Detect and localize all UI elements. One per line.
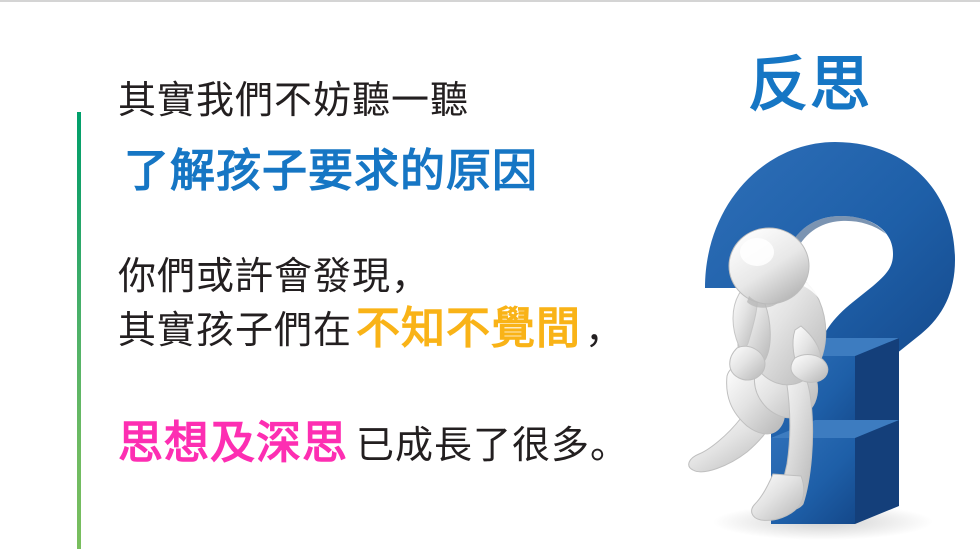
body-line-4-suffix: ， (585, 308, 624, 352)
body-line-5-highlight: 思想及深思 (118, 416, 356, 469)
body-line-4-highlight: 不知不覺間 (352, 303, 585, 354)
accent-bar (77, 112, 81, 549)
body-line-1: 其實我們不妨聽一聽 (118, 76, 688, 124)
body-line-5: 思想及深思已成長了很多。 (118, 417, 688, 471)
thinking-person-question-mark-image (655, 120, 980, 544)
slide-heading: 反思 (748, 54, 872, 117)
body-line-4: 其實孩子們在不知不覺間， (118, 304, 688, 355)
slide-canvas: 反思 其實我們不妨聽一聽 了解孩子要求的原因 你們或許會發現， 其實孩子們在不知… (0, 0, 980, 552)
body-line-5-suffix: 已成長了很多。 (356, 423, 629, 467)
question-mark-illustration-svg (655, 120, 980, 544)
body-line-2-emphasis: 了解孩子要求的原因 (124, 142, 688, 200)
slide-body-text: 其實我們不妨聽一聽 了解孩子要求的原因 你們或許會發現， 其實孩子們在不知不覺間… (118, 76, 688, 471)
body-line-4-prefix: 其實孩子們在 (118, 308, 352, 352)
body-line-3: 你們或許會發現， (118, 252, 688, 300)
